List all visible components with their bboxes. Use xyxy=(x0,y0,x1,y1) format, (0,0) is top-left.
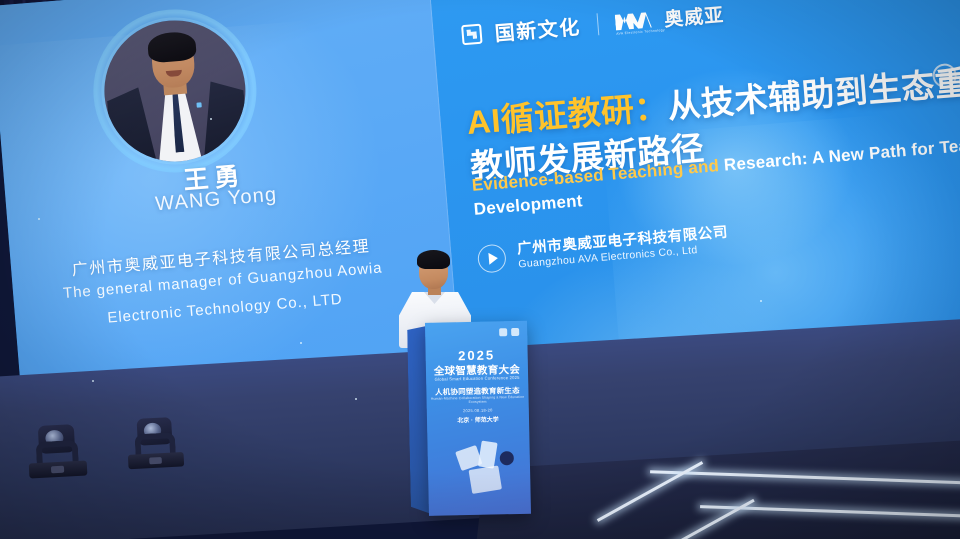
podium-graphic-icon xyxy=(455,441,518,504)
slide-subtitle-line2: Development xyxy=(473,191,583,220)
guoxin-logo-icon xyxy=(461,23,483,45)
floor-moving-head-light-icon xyxy=(126,413,184,470)
portrait-lapel-pin-icon xyxy=(196,102,201,107)
podium: 2025 全球智慧教育大会 Global Smart Education Con… xyxy=(407,321,531,518)
stage-photo: 王勇 WANG Yong 广州市奥威亚电子科技有限公司总经理 The gener… xyxy=(0,0,960,539)
subtitle-white-part: Research: A New Path for Teacher xyxy=(723,133,960,175)
play-arrow-icon xyxy=(477,243,507,273)
podium-logo-icon xyxy=(499,328,519,336)
ava-logo-icon: AVA Electronic Technology xyxy=(615,12,652,31)
floor-moving-head-light-icon xyxy=(27,420,88,479)
brand-name-cn: 国新文化 xyxy=(494,11,582,47)
slide-title-rest: 从技术辅助到生态重构的 xyxy=(666,58,960,124)
ava-tagline: AVA Electronic Technology xyxy=(616,27,665,35)
portrait-suit-left xyxy=(106,86,164,167)
logo-divider xyxy=(597,13,600,35)
organization-block: 广州市奥威亚电子科技有限公司 Guangzhou AVA Electronics… xyxy=(477,224,730,276)
partner-name-cn: 奥威亚 xyxy=(663,0,725,32)
avatar xyxy=(87,3,263,179)
presenter-hair xyxy=(417,250,450,269)
slide-title-line1: AI循证教研：从技术辅助到生态重构的 xyxy=(465,51,960,145)
portrait-hair xyxy=(146,31,196,64)
slide-logo-bar: 国新文化 AVA Electronic Technology 奥威亚 xyxy=(461,0,725,49)
